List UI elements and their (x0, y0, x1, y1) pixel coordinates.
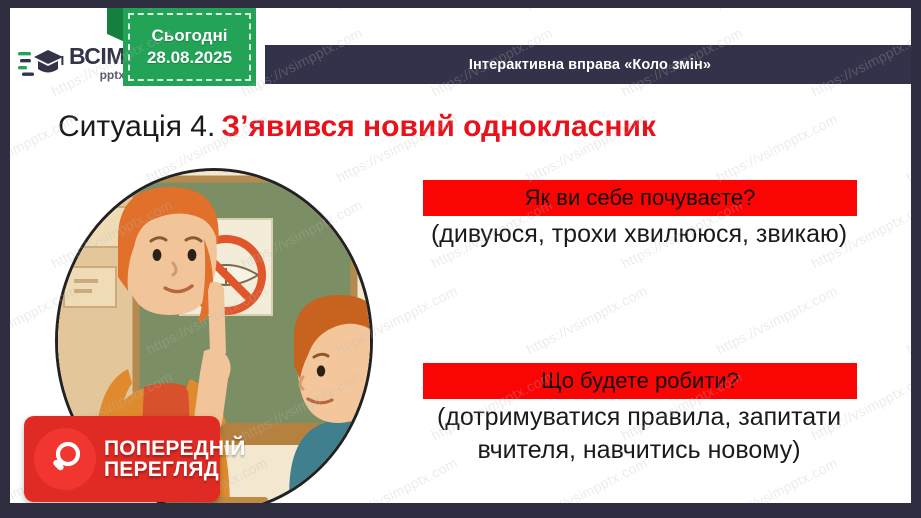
question-block-2: Що будете робити? (дотримуватися правила… (423, 363, 857, 467)
watermark-text: https://vsimpptx.com (904, 455, 911, 503)
magnifier-icon (34, 428, 96, 490)
question-bar-2: Що будете робити? (423, 363, 857, 399)
graduation-cap-icon (18, 45, 64, 81)
answer-text-2: (дотримуватися правила, запитати вчителя… (389, 401, 889, 467)
preview-badge-label: ПОПЕРЕДНІЙ ПЕРЕГЛЯД (104, 438, 246, 481)
header-banner: Інтерактивна вправа «Коло змін» (265, 45, 911, 84)
watermark-text: https://vsimpptx.com (904, 8, 911, 13)
brand-logo: ВСІМ pptx (10, 34, 138, 92)
logo-wordmark: ВСІМ pptx (69, 45, 125, 81)
watermark-text: https://vsimpptx.com (904, 283, 911, 358)
watermark-text: https://vsimpptx.com (904, 111, 911, 186)
question-text-1: Як ви себе почуваєте? (525, 185, 756, 211)
watermark-text: https://vsimpptx.com (714, 283, 840, 358)
watermark-text: https://vsimpptx.com (334, 8, 460, 13)
watermark-text: https://vsimpptx.com (714, 111, 840, 186)
ribbon-label: Сьогодні (152, 26, 228, 46)
question-block-1: Як ви себе почуваєте? (дивуюся, трохи хв… (423, 180, 857, 251)
watermark-text: https://vsimpptx.com (524, 8, 650, 13)
preview-badge[interactable]: ПОПЕРЕДНІЙ ПЕРЕГЛЯД (24, 416, 220, 502)
logo-main-text: ВСІМ (69, 45, 125, 68)
preview-line-2: ПЕРЕГЛЯД (104, 459, 246, 480)
slide-page: Ситуація 4.З’явився новий однокласник Як… (10, 8, 911, 503)
header-banner-title: Інтерактивна вправа «Коло змін» (469, 57, 711, 73)
logo-sub-text: pptx (69, 69, 125, 81)
question-bar-1: Як ви себе почуваєте? (423, 180, 857, 216)
answer-text-1: (дивуюся, трохи хвилююся, звикаю) (389, 218, 889, 251)
ribbon-body: Сьогодні 28.08.2025 (123, 8, 256, 86)
watermark-text: https://vsimpptx.com (10, 8, 80, 13)
title-prefix: Ситуація 4. (58, 110, 215, 143)
page-title: Ситуація 4.З’явився новий однокласник (58, 110, 656, 144)
watermark-text: https://vsimpptx.com (714, 8, 840, 13)
title-highlight: З’явився новий однокласник (221, 110, 656, 143)
watermark-text: https://vsimpptx.com (524, 283, 650, 358)
slide-canvas: Ситуація 4.З’явився новий однокласник Як… (0, 0, 921, 518)
preview-line-1: ПОПЕРЕДНІЙ (104, 438, 246, 459)
question-text-2: Що будете робити? (541, 368, 739, 394)
ribbon-date: 28.08.2025 (147, 48, 232, 68)
date-ribbon: Сьогодні 28.08.2025 (123, 8, 256, 86)
ribbon-dashed-border (128, 13, 251, 81)
